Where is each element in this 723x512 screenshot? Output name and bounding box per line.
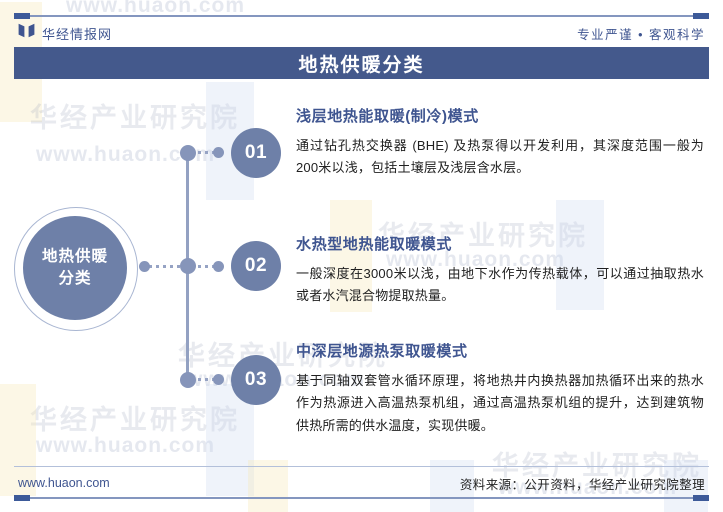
footer-source: 资料来源：公开资料，华经产业研究院整理	[460, 474, 709, 493]
connector-dot-start-2	[139, 261, 150, 272]
infographic-page: www.huaon.com 华经产业研究院 www.huaon.com 华经产业…	[0, 0, 723, 512]
watermark-cn: 华经产业研究院	[30, 398, 240, 437]
step-heading-03: 中深层地源热泵取暖模式	[296, 340, 704, 361]
step-number-circle-01[interactable]: 01	[231, 128, 281, 178]
step-number-03: 03	[245, 369, 267, 391]
hub-label-line1: 地热供暖	[42, 246, 108, 268]
page-header: 华经情报网 专业严谨 • 客观科学	[14, 19, 709, 47]
page-title: 地热供暖分类	[298, 50, 424, 77]
step-number-02: 02	[245, 255, 267, 277]
step-heading-02: 水热型地热能取暖模式	[296, 233, 704, 254]
brand[interactable]: 华经情报网	[14, 23, 112, 43]
watermark-en: www.huaon.com	[36, 434, 215, 458]
bottom-divider-cap-left	[14, 495, 30, 501]
step-block-03: 中深层地源热泵取暖模式 基于同轴双套管水循环原理，将地热井内换热器加热循环出来的…	[296, 340, 704, 437]
top-divider	[14, 15, 709, 17]
bottom-divider-cap-right	[693, 495, 709, 501]
connector-node-3	[180, 372, 196, 388]
footer-site-link[interactable]: www.huaon.com	[14, 476, 110, 490]
connector-dot-end-2	[213, 261, 224, 272]
step-number-circle-02[interactable]: 02	[231, 241, 281, 291]
header-tagline: 专业严谨 • 客观科学	[577, 24, 709, 43]
step-block-02: 水热型地热能取暖模式 一般深度在3000米以浅，由地下水作为传热载体，可以通过抽…	[296, 233, 704, 308]
step-number-circle-03[interactable]: 03	[231, 355, 281, 405]
bottom-divider	[14, 497, 709, 499]
footer-divider	[14, 466, 709, 467]
connector-dot-end-3	[213, 374, 224, 385]
page-title-bar: 地热供暖分类	[14, 47, 709, 79]
hub-circle: 地热供暖 分类	[23, 216, 127, 320]
step-heading-01: 浅层地热能取暖(制冷)模式	[296, 105, 704, 126]
connector-node-1	[180, 145, 196, 161]
step-body-03: 基于同轴双套管水循环原理，将地热井内换热器加热循环出来的热水作为热源进入高温热泵…	[296, 370, 704, 437]
step-number-01: 01	[245, 142, 267, 164]
brand-name: 华经情报网	[42, 24, 112, 43]
step-body-02: 一般深度在3000米以浅，由地下水作为传热载体，可以通过抽取热水或者水汽混合物提…	[296, 263, 704, 308]
step-body-01: 通过钻孔热交换器 (BHE) 及热泵得以开发利用，其深度范围一般为200米以浅，…	[296, 135, 704, 180]
step-block-01: 浅层地热能取暖(制冷)模式 通过钻孔热交换器 (BHE) 及热泵得以开发利用，其…	[296, 105, 704, 180]
connector-node-2	[180, 258, 196, 274]
hub-label-line2: 分类	[58, 268, 91, 290]
connector-dot-end-1	[213, 147, 224, 158]
page-footer: www.huaon.com 资料来源：公开资料，华经产业研究院整理	[14, 470, 709, 496]
open-book-icon	[18, 23, 35, 43]
connector-dots-2-left	[149, 265, 180, 268]
watermark-cn: 华经产业研究院	[30, 96, 240, 135]
